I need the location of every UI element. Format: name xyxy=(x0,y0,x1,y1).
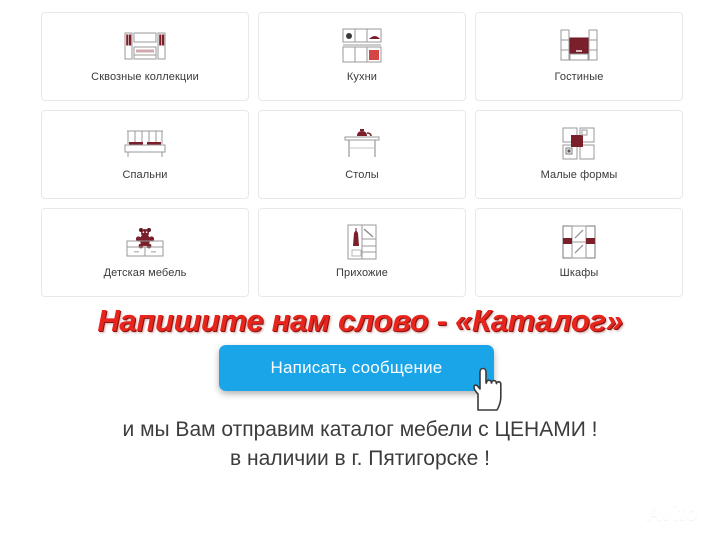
category-label: Сквозные коллекции xyxy=(91,71,199,84)
kitchen-icon xyxy=(342,25,382,67)
promo-headline: Напишите нам слово - «Каталог» xyxy=(0,303,720,339)
category-card-collections[interactable]: Сквозные коллекции xyxy=(41,12,249,101)
table-icon xyxy=(343,123,381,165)
category-card-kids-furniture[interactable]: Детская мебель xyxy=(41,208,249,297)
category-label: Столы xyxy=(345,169,379,182)
category-label: Детская мебель xyxy=(104,267,187,280)
category-label: Гостиные xyxy=(555,71,604,84)
promo-banner: Сквозные коллекции Кухни xyxy=(0,0,720,540)
avito-logo-icon xyxy=(622,503,644,525)
wardrobe-icon xyxy=(561,221,597,263)
subcopy-line-1: и мы Вам отправим каталог мебели с ЦЕНАМ… xyxy=(0,415,720,444)
category-label: Кухни xyxy=(347,71,377,84)
small-forms-icon xyxy=(562,123,596,165)
kids-furniture-icon xyxy=(124,221,166,263)
category-label: Шкафы xyxy=(560,267,599,280)
avito-watermark-text: Avito xyxy=(646,502,698,526)
category-card-bedroom[interactable]: Спальни xyxy=(41,110,249,199)
collections-icon xyxy=(124,25,166,67)
write-message-button[interactable]: Написать сообщение xyxy=(219,345,494,391)
bed-icon xyxy=(123,123,167,165)
category-label: Прихожие xyxy=(336,267,388,280)
category-card-hallway[interactable]: Прихожие xyxy=(258,208,466,297)
category-label: Малые формы xyxy=(541,169,618,182)
avito-watermark: Avito xyxy=(622,502,698,526)
hallway-icon xyxy=(347,221,377,263)
promo-subcopy: и мы Вам отправим каталог мебели с ЦЕНАМ… xyxy=(0,415,720,473)
subcopy-line-2: в наличии в г. Пятигорске ! xyxy=(0,444,720,473)
category-grid: Сквозные коллекции Кухни xyxy=(41,12,691,297)
category-label: Спальни xyxy=(122,169,167,182)
living-room-icon xyxy=(559,25,599,67)
category-card-small-forms[interactable]: Малые формы xyxy=(475,110,683,199)
category-card-living-room[interactable]: Гостиные xyxy=(475,12,683,101)
category-card-tables[interactable]: Столы xyxy=(258,110,466,199)
category-card-wardrobe[interactable]: Шкафы xyxy=(475,208,683,297)
category-card-kitchen[interactable]: Кухни xyxy=(258,12,466,101)
